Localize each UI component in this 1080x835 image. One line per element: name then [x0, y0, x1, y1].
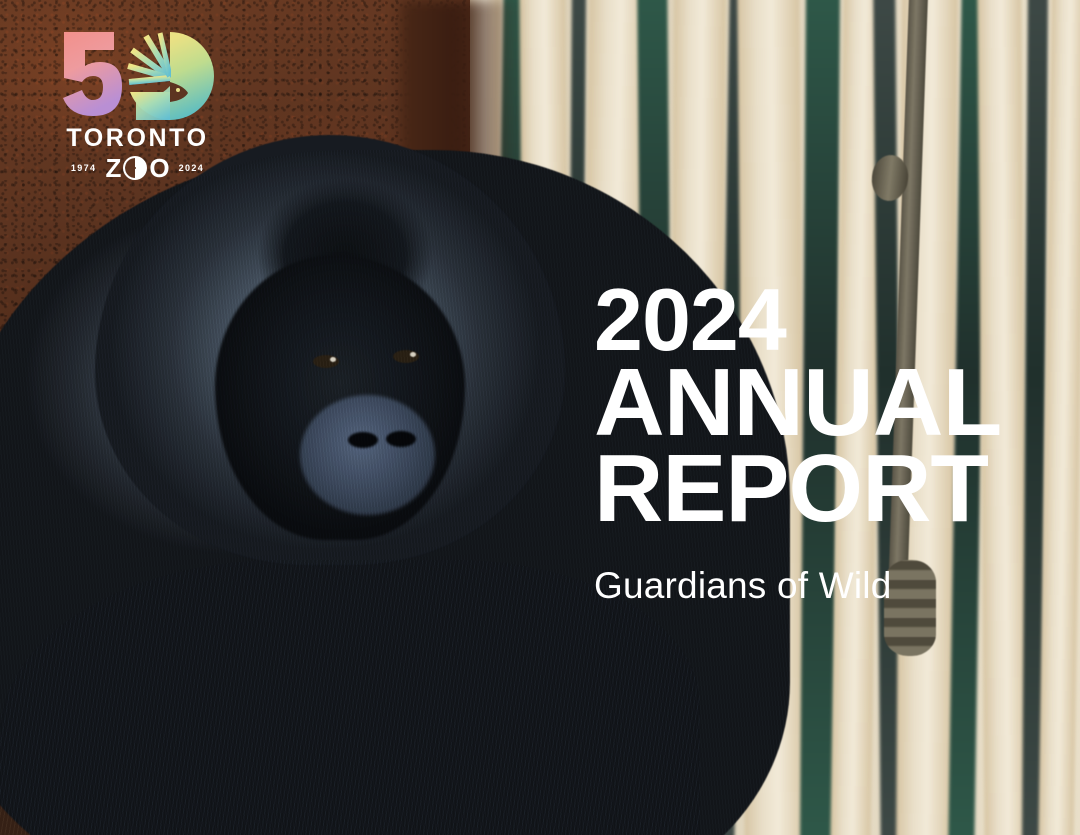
report-subtitle: Guardians of Wild — [594, 567, 1064, 604]
wordmark-zoo: Z O — [105, 155, 169, 181]
title-line-annual: ANNUAL — [594, 362, 1073, 445]
leaf-o-icon — [123, 156, 147, 180]
fifty-anniversary-icon — [60, 28, 215, 120]
cover-title-block: 2024 ANNUAL REPORT Guardians of Wild — [594, 282, 1064, 604]
toronto-zoo-wordmark: TORONTO 1974 Z O — [60, 126, 215, 181]
report-year: 2024 — [594, 282, 1064, 358]
title-line-report: REPORT — [594, 448, 1064, 531]
logo-year-start: 1974 — [71, 163, 97, 173]
wordmark-toronto: TORONTO — [60, 126, 215, 151]
wordmark-zoo-row: 1974 Z O 2024 — [60, 155, 215, 181]
logo-year-end: 2024 — [179, 163, 205, 173]
wordmark-letter-z: Z — [105, 155, 121, 181]
report-cover: TORONTO 1974 Z O — [0, 0, 1080, 835]
wordmark-letter-o: O — [149, 155, 169, 181]
toronto-zoo-50-logo: TORONTO 1974 Z O — [60, 28, 215, 181]
